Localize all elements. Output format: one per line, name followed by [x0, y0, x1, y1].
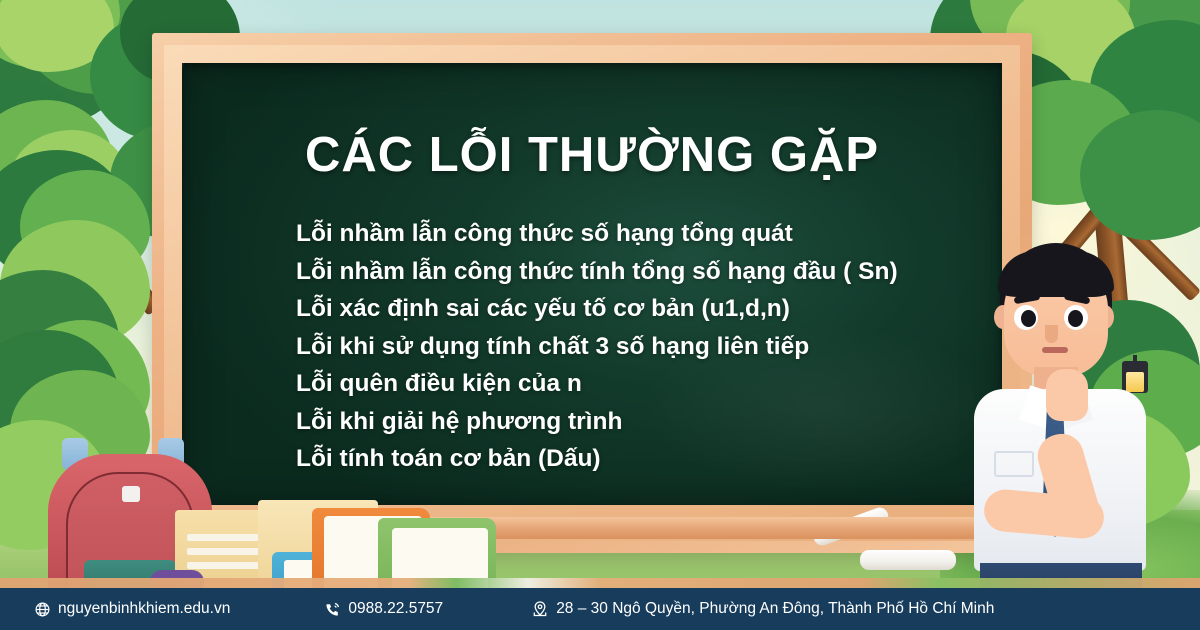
footer-bar: nguyenbinhkhiem.edu.vn 0988.22.5757 — [0, 588, 1200, 630]
chalkboard-surface: CÁC LỖI THƯỜNG GẶP Lỗi nhầm lẫn công thứ… — [182, 63, 1002, 505]
student-hand-on-chin — [1046, 369, 1088, 421]
student-pupil-left — [1021, 310, 1036, 327]
footer-phone-text: 0988.22.5757 — [348, 600, 443, 618]
footer-address-text: 28 – 30 Ngô Quyền, Phường An Đông, Thành… — [556, 600, 994, 618]
student-mouth — [1042, 347, 1068, 353]
board-line: Lỗi nhầm lẫn công thức tính tổng số hạng… — [296, 253, 996, 291]
board-error-list: Lỗi nhầm lẫn công thức số hạng tổng quát… — [296, 215, 996, 478]
globe-icon — [34, 601, 51, 618]
location-pin-icon — [531, 600, 549, 618]
backpack-zipper-pull — [122, 486, 140, 502]
footer-address[interactable]: 28 – 30 Ngô Quyền, Phường An Đông, Thành… — [531, 600, 994, 618]
board-line: Lỗi nhầm lẫn công thức số hạng tổng quát — [296, 215, 996, 253]
student-character — [950, 243, 1180, 595]
student-shirt-pocket — [994, 451, 1034, 477]
board-line: Lỗi quên điều kiện của n — [296, 365, 996, 403]
student-pupil-right — [1068, 310, 1083, 327]
chalkboard: CÁC LỖI THƯỜNG GẶP Lỗi nhầm lẫn công thứ… — [152, 33, 1032, 553]
board-line: Lỗi xác định sai các yếu tố cơ bản (u1,d… — [296, 290, 996, 328]
board-line: Lỗi khi giải hệ phương trình — [296, 403, 996, 441]
board-title: CÁC LỖI THƯỜNG GẶP — [182, 127, 1002, 183]
student-nose — [1045, 325, 1058, 343]
phone-ringing-icon — [324, 601, 341, 618]
chalk-stick — [860, 550, 956, 570]
footer-website-text: nguyenbinhkhiem.edu.vn — [58, 600, 230, 618]
student-hair-front — [998, 251, 1114, 297]
footer-phone[interactable]: 0988.22.5757 — [324, 600, 443, 618]
board-line: Lỗi tính toán cơ bản (Dấu) — [296, 440, 996, 478]
poster-canvas: CÁC LỖI THƯỜNG GẶP Lỗi nhầm lẫn công thứ… — [0, 0, 1200, 630]
footer-color-strip — [0, 578, 1200, 588]
board-line: Lỗi khi sử dụng tính chất 3 số hạng liên… — [296, 328, 996, 366]
footer-website[interactable]: nguyenbinhkhiem.edu.vn — [34, 600, 230, 618]
